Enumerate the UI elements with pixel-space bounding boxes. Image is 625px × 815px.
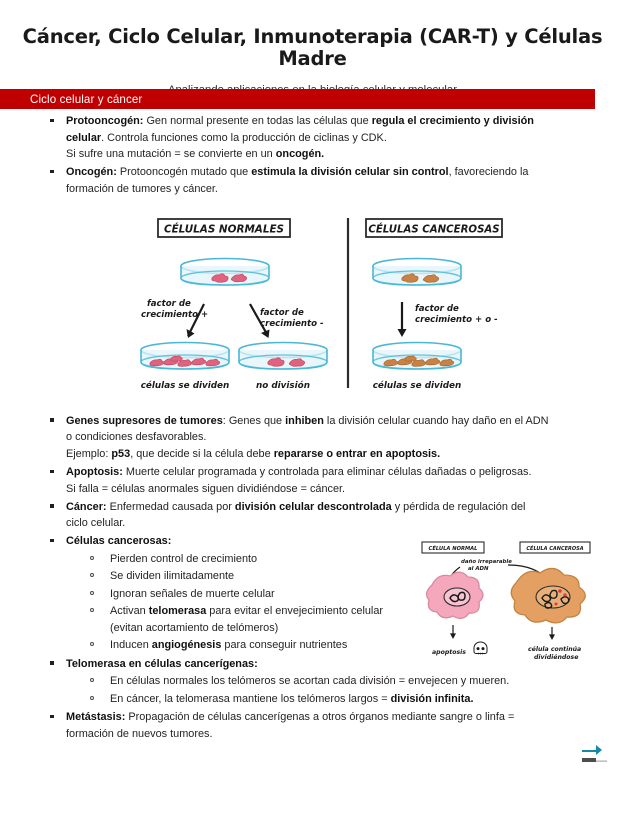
- svg-text:crecimiento -: crecimiento -: [260, 319, 324, 329]
- body-text: . Controla funciones como la producción …: [101, 132, 387, 144]
- label-growth-minus: factor de crecimiento -: [260, 308, 324, 329]
- emphasis-text: Metástasis:: [66, 711, 125, 723]
- svg-text:factor de: factor de: [415, 304, 459, 314]
- body-text: En cáncer, la telomerasa mantiene los te…: [110, 693, 391, 705]
- emphasis-text: división celular descontrolada: [235, 501, 392, 513]
- body-text: o condiciones desfavorables.: [66, 431, 206, 443]
- bullet-line: Si falla = células anormales siguen divi…: [66, 481, 595, 498]
- emphasis-text: Apoptosis:: [66, 466, 123, 478]
- section-banner-label: Ciclo celular y cáncer: [0, 93, 142, 106]
- emphasis-text: angiogénesis: [152, 639, 222, 651]
- label-growth-any: factor de crecimiento + o -: [415, 304, 498, 325]
- body-text: formación de tumores y cáncer.: [66, 183, 218, 195]
- label-normal-cell-text: CÉLULA NORMAL: [429, 544, 478, 552]
- caption-no-division: no división: [256, 380, 310, 391]
- body-text: para conseguir nutrientes: [221, 639, 347, 651]
- svg-text:factor de: factor de: [260, 308, 304, 318]
- body-text: Muerte celular programada y controlada p…: [123, 466, 532, 478]
- emphasis-text: telomerasa: [149, 605, 207, 617]
- bullet-item: Metástasis: Propagación de células cance…: [0, 709, 595, 742]
- bullet-line: Metástasis: Propagación de células cance…: [66, 709, 595, 726]
- skull-icon: [474, 642, 487, 654]
- sub-bullet-item: En células normales los telómeros se aco…: [66, 673, 595, 690]
- body-text: , favoreciendo la: [449, 166, 529, 178]
- body-text: formación de nuevos tumores.: [66, 728, 213, 740]
- emphasis-text: división infinita.: [391, 693, 474, 705]
- bullet-line: formación de nuevos tumores.: [66, 726, 595, 743]
- brand-logo-watermark: [580, 744, 610, 770]
- bullet-line: Ejemplo: p53, que decide si la célula de…: [66, 446, 595, 463]
- sub-bullet-line: En cáncer, la telomerasa mantiene los te…: [110, 691, 595, 708]
- bullet-item: Apoptosis: Muerte celular programada y c…: [0, 464, 595, 497]
- square-bullet-icon: [50, 119, 54, 123]
- body-text: Enfermedad causada por: [107, 501, 235, 513]
- circle-bullet-icon: [90, 696, 94, 700]
- emphasis-text: Genes supresores de tumores: [66, 415, 223, 427]
- square-bullet-icon: [50, 539, 54, 543]
- dish-normal-top: [181, 259, 269, 286]
- caption-divide-left: células se dividen: [141, 380, 230, 391]
- circle-bullet-icon: [90, 591, 94, 595]
- body-text: Protooncogén mutado que: [117, 166, 251, 178]
- circle-bullet-icon: [90, 642, 94, 646]
- bullet-line: Cáncer: Enfermedad causada por división …: [66, 499, 595, 516]
- bullet-item: Cáncer: Enfermedad causada por división …: [0, 499, 595, 532]
- emphasis-text: regula el crecimiento y división: [372, 115, 534, 127]
- svg-text:célula continúa: célula continúa: [528, 645, 581, 653]
- bullet-item: Protooncogén: Gen normal presente en tod…: [0, 113, 595, 163]
- panel-title-normal-text: CÉLULAS NORMALES: [164, 223, 284, 236]
- document-page: Cáncer, Ciclo Celular, Inmunoterapia (CA…: [0, 0, 625, 815]
- svg-text:daño irreparable: daño irreparable: [461, 559, 512, 565]
- square-bullet-icon: [50, 170, 54, 174]
- square-bullet-icon: [50, 715, 54, 719]
- bullet-item: Genes supresores de tumores: Genes que i…: [0, 413, 595, 463]
- emphasis-text: Protooncogén:: [66, 115, 143, 127]
- label-growth-plus: factor de crecimiento +: [141, 299, 208, 320]
- sub-bullet-line: En células normales los telómeros se aco…: [110, 673, 595, 690]
- emphasis-text: p53: [111, 448, 130, 460]
- emphasis-text: Células cancerosas:: [66, 535, 171, 547]
- body-text: Si falla = células anormales siguen divi…: [66, 483, 345, 495]
- bullet-line: celular. Controla funciones como la prod…: [66, 130, 595, 147]
- annotation-dna-damage: daño irreparable al ADN: [461, 559, 512, 572]
- bullet-line: ciclo celular.: [66, 515, 595, 532]
- body-text: : Genes que: [223, 415, 285, 427]
- bullet-item: Oncogén: Protooncogén mutado que estimul…: [0, 164, 595, 197]
- bullet-line: formación de tumores y cáncer.: [66, 181, 595, 198]
- svg-text:crecimiento + o -: crecimiento + o -: [415, 315, 498, 325]
- dish-cancer-top: [373, 259, 461, 286]
- body-text: Si sufre una mutación = se convierte en …: [66, 148, 276, 160]
- circle-bullet-icon: [90, 573, 94, 577]
- label-cancer-cell-text: CÉLULA CANCEROSA: [526, 544, 583, 552]
- square-bullet-icon: [50, 470, 54, 474]
- sub-bullet-list: En células normales los telómeros se aco…: [66, 673, 595, 707]
- body-text: la división celular cuando hay daño en e…: [324, 415, 549, 427]
- emphasis-text: Telomerasa en células cancerígenas:: [66, 658, 258, 670]
- arrow-growth-any: [398, 302, 407, 337]
- square-bullet-icon: [50, 504, 54, 508]
- square-bullet-icon: [50, 661, 54, 665]
- cancer-cell-body: [511, 568, 585, 622]
- page-title: Cáncer, Ciclo Celular, Inmunoterapia (CA…: [0, 0, 625, 71]
- body-text: En células normales los telómeros se aco…: [110, 675, 509, 687]
- figure-normal-vs-cancer-cell: CÉLULA NORMAL CÉLULA CANCEROSA daño irre…: [416, 541, 612, 661]
- panel-title-cancer-text: CÉLULAS CANCEROSAS: [368, 223, 499, 236]
- bullet-list-top: Protooncogén: Gen normal presente en tod…: [0, 113, 625, 197]
- circle-bullet-icon: [90, 678, 94, 682]
- figure-petri-dishes: CÉLULAS NORMALES CÉLULAS CANCEROSAS: [140, 216, 550, 408]
- body-text: ciclo celular.: [66, 517, 125, 529]
- sub-bullet-item: En cáncer, la telomerasa mantiene los te…: [66, 691, 595, 708]
- section-banner: Ciclo celular y cáncer: [0, 89, 595, 109]
- svg-text:dividiéndose: dividiéndose: [534, 653, 578, 661]
- body-text: Inducen: [110, 639, 152, 651]
- svg-text:al ADN: al ADN: [468, 566, 489, 572]
- bullet-line: Si sufre una mutación = se convierte en …: [66, 146, 595, 163]
- body-text: Propagación de células cancerígenas a ot…: [125, 711, 514, 723]
- emphasis-text: inhiben: [285, 415, 324, 427]
- emphasis-text: estimula la división celular sin control: [251, 166, 448, 178]
- body-text: , que decide si la célula debe: [130, 448, 274, 460]
- bullet-line: Genes supresores de tumores: Genes que i…: [66, 413, 595, 430]
- emphasis-text: celular: [66, 132, 101, 144]
- body-text: Ignoran señales de muerte celular: [110, 588, 275, 600]
- label-box-cancer-cell: CÉLULA CANCEROSA: [520, 542, 590, 553]
- body-text: Se dividen ilimitadamente: [110, 570, 234, 582]
- body-text: Gen normal presente en todas las células…: [143, 115, 371, 127]
- body-text: (evitan acortamiento de telómeros): [110, 622, 278, 634]
- dish-cancer-divide: [373, 343, 461, 370]
- label-box-normal-cell: CÉLULA NORMAL: [422, 542, 484, 553]
- caption-apoptosis: apoptosis: [432, 648, 466, 656]
- bullet-line: o condiciones desfavorables.: [66, 429, 595, 446]
- emphasis-text: repararse o entrar en apoptosis.: [274, 448, 440, 460]
- svg-text:factor de: factor de: [147, 299, 191, 309]
- logo-bar: [582, 758, 596, 762]
- svg-text:crecimiento +: crecimiento +: [141, 310, 208, 320]
- circle-bullet-icon: [90, 556, 94, 560]
- panel-title-normal: CÉLULAS NORMALES: [158, 219, 290, 237]
- bullet-line: Protooncogén: Gen normal presente en tod…: [66, 113, 595, 130]
- normal-cell-body: [427, 572, 483, 618]
- dish-normal-nodivide: [239, 343, 327, 370]
- body-text: Ejemplo:: [66, 448, 111, 460]
- emphasis-text: Cáncer:: [66, 501, 107, 513]
- panel-title-cancer: CÉLULAS CANCEROSAS: [366, 219, 502, 237]
- emphasis-text: Oncogén:: [66, 166, 117, 178]
- body-text: y pérdida de regulación del: [392, 501, 526, 513]
- circle-bullet-icon: [90, 608, 94, 612]
- bullet-line: Oncogén: Protooncogén mutado que estimul…: [66, 164, 595, 181]
- bullet-line: Apoptosis: Muerte celular programada y c…: [66, 464, 595, 481]
- body-text: Activan: [110, 605, 149, 617]
- arrow-keeps-dividing: [549, 627, 555, 640]
- square-bullet-icon: [50, 418, 54, 422]
- bullet-item: Telomerasa en células cancerígenas:En cé…: [0, 656, 595, 708]
- body-text: para evitar el envejecimiento celular: [206, 605, 383, 617]
- arrow-apoptosis: [450, 625, 456, 639]
- caption-divide-right: células se dividen: [373, 380, 462, 391]
- emphasis-text: oncogén.: [276, 148, 324, 160]
- logo-underline: [596, 761, 607, 762]
- caption-cancer-keeps-dividing: célula continúa dividiéndose: [528, 645, 581, 661]
- body-text: Pierden control de crecimiento: [110, 553, 257, 565]
- dish-normal-divide: [141, 343, 229, 370]
- logo-arrow-icon: [582, 745, 602, 755]
